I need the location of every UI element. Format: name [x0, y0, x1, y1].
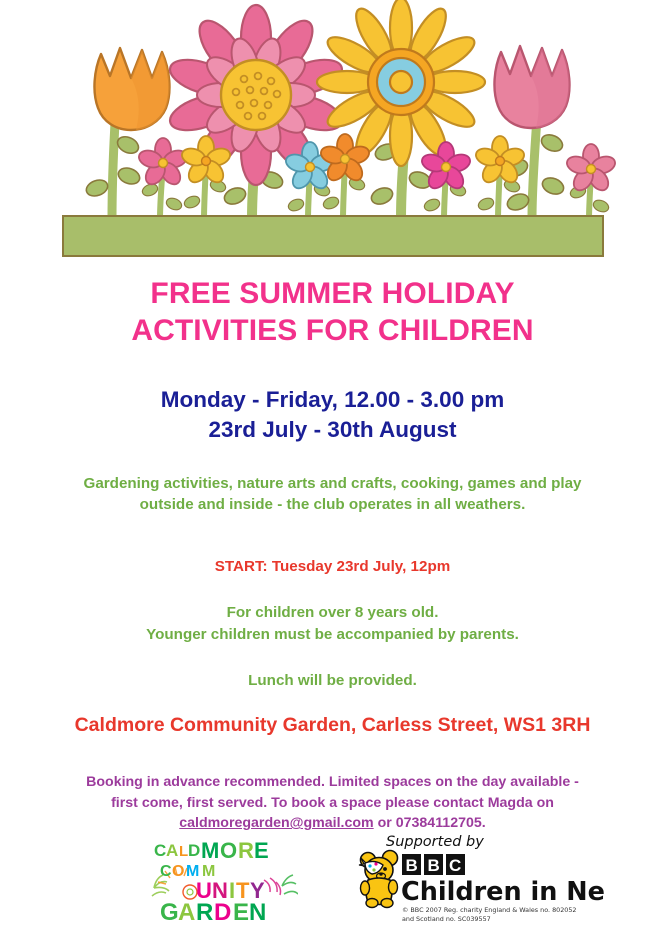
svg-text:D: D — [214, 899, 231, 926]
children-in-need-wordmark: Children in Need — [401, 877, 604, 907]
activities-line-2: outside and inside - the club operates i… — [140, 496, 526, 513]
sprig-right-decoration — [264, 878, 281, 895]
schedule-days-time: Monday - Friday, 12.00 - 3.00 pm — [161, 387, 504, 412]
start-date-notice: START: Tuesday 23rd July, 12pm — [0, 558, 665, 575]
poster-text-area: FREE SUMMER HOLIDAY ACTIVITIES FOR CHILD… — [0, 262, 665, 834]
activities-line-1: Gardening activities, nature arts and cr… — [84, 475, 582, 492]
age-line-2: Younger children must be accompanied by … — [146, 626, 519, 643]
svg-text:O: O — [172, 863, 184, 880]
bbc-letter-b2: B — [428, 856, 440, 875]
svg-text:N: N — [249, 899, 266, 926]
pink-tulip — [494, 46, 569, 128]
age-line-1: For children over 8 years old. — [227, 604, 439, 621]
headline-line-1: FREE SUMMER HOLIDAY — [150, 277, 514, 310]
schedule-date-range: 23rd July - 30th August — [209, 417, 457, 442]
lunch-notice: Lunch will be provided. — [0, 672, 665, 689]
svg-text:A: A — [178, 899, 195, 926]
logo-word-garden: G A R D E N — [160, 899, 266, 926]
bbc-children-in-need-logo: Supported by — [358, 830, 604, 930]
svg-text:C: C — [160, 863, 172, 880]
caldmore-community-garden-logo: C A L D M O R E C O M M — [146, 834, 298, 926]
svg-text:A: A — [166, 841, 178, 860]
orange-tulip — [94, 48, 169, 130]
bbc-blocks: B B C — [402, 854, 465, 875]
booking-line-2: first come, first served. To book a spac… — [111, 795, 554, 811]
svg-text:R: R — [238, 838, 254, 863]
bbc-fineprint-line-2: and Scotland no. SC039557 — [402, 915, 491, 923]
svg-text:E: E — [254, 838, 269, 863]
booking-line-1: Booking in advance recommended. Limited … — [86, 774, 579, 790]
age-requirement-block: For children over 8 years old. Younger c… — [0, 602, 665, 646]
sun-inner-decoration — [187, 889, 193, 895]
bbc-letter-b1: B — [406, 856, 418, 875]
sun-circle-decoration — [183, 885, 197, 899]
pudsey-bear-icon — [359, 851, 398, 908]
flower-garden-illustration — [0, 0, 665, 258]
page-title: FREE SUMMER HOLIDAY ACTIVITIES FOR CHILD… — [0, 276, 665, 349]
bbc-fineprint-line-1: © BBC 2007 Reg. charity England & Wales … — [402, 906, 576, 914]
bbc-letter-c: C — [449, 856, 461, 875]
svg-text:L: L — [179, 843, 188, 860]
svg-text:G: G — [160, 899, 179, 926]
venue-address: Caldmore Community Garden, Carless Stree… — [0, 714, 665, 737]
footer-logos: C A L D M O R E C O M M — [0, 828, 665, 940]
sprig-far-right-decoration — [282, 875, 298, 894]
svg-text:R: R — [196, 899, 213, 926]
headline-line-2: ACTIVITIES FOR CHILDREN — [131, 314, 533, 347]
supported-by-text: Supported by — [386, 834, 484, 850]
schedule-block: Monday - Friday, 12.00 - 3.00 pm 23rd Ju… — [0, 385, 665, 444]
garden-ground-bar — [63, 216, 603, 256]
svg-text:M: M — [201, 838, 219, 863]
activities-description: Gardening activities, nature arts and cr… — [0, 473, 665, 516]
logo-word-caldmore: C A L D M O R E — [154, 838, 269, 863]
poster: FREE SUMMER HOLIDAY ACTIVITIES FOR CHILD… — [0, 0, 665, 940]
svg-text:O: O — [220, 838, 237, 863]
svg-text:D: D — [188, 841, 200, 860]
svg-text:C: C — [154, 841, 166, 860]
booking-information: Booking in advance recommended. Limited … — [0, 772, 665, 834]
svg-text:E: E — [233, 899, 249, 926]
